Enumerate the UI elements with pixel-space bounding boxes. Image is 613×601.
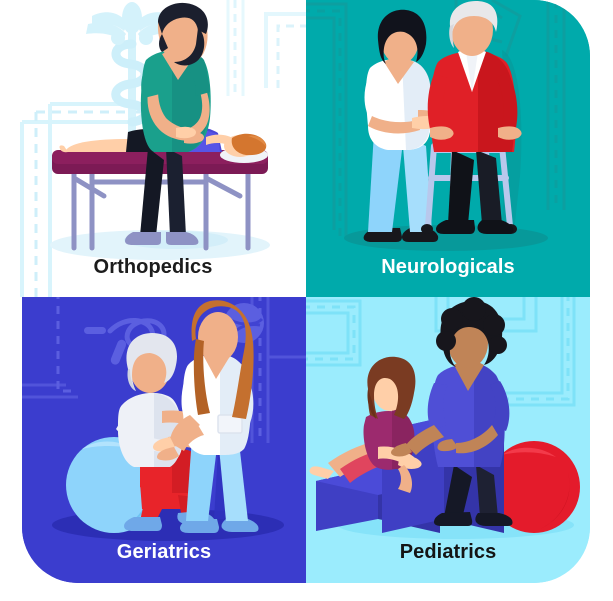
caption-orthopedics: Orthopedics: [0, 256, 306, 279]
panel-neurologicals[interactable]: [306, 0, 590, 297]
panel-orthopedics[interactable]: [0, 0, 306, 297]
caption-pediatrics: Pediatrics: [306, 541, 590, 564]
caption-geriatrics: Geriatrics: [22, 541, 306, 564]
concept-graphic: Orthopedics Neurologicals Geriatrics Ped…: [0, 0, 613, 601]
caption-neurologicals: Neurologicals: [306, 256, 590, 279]
